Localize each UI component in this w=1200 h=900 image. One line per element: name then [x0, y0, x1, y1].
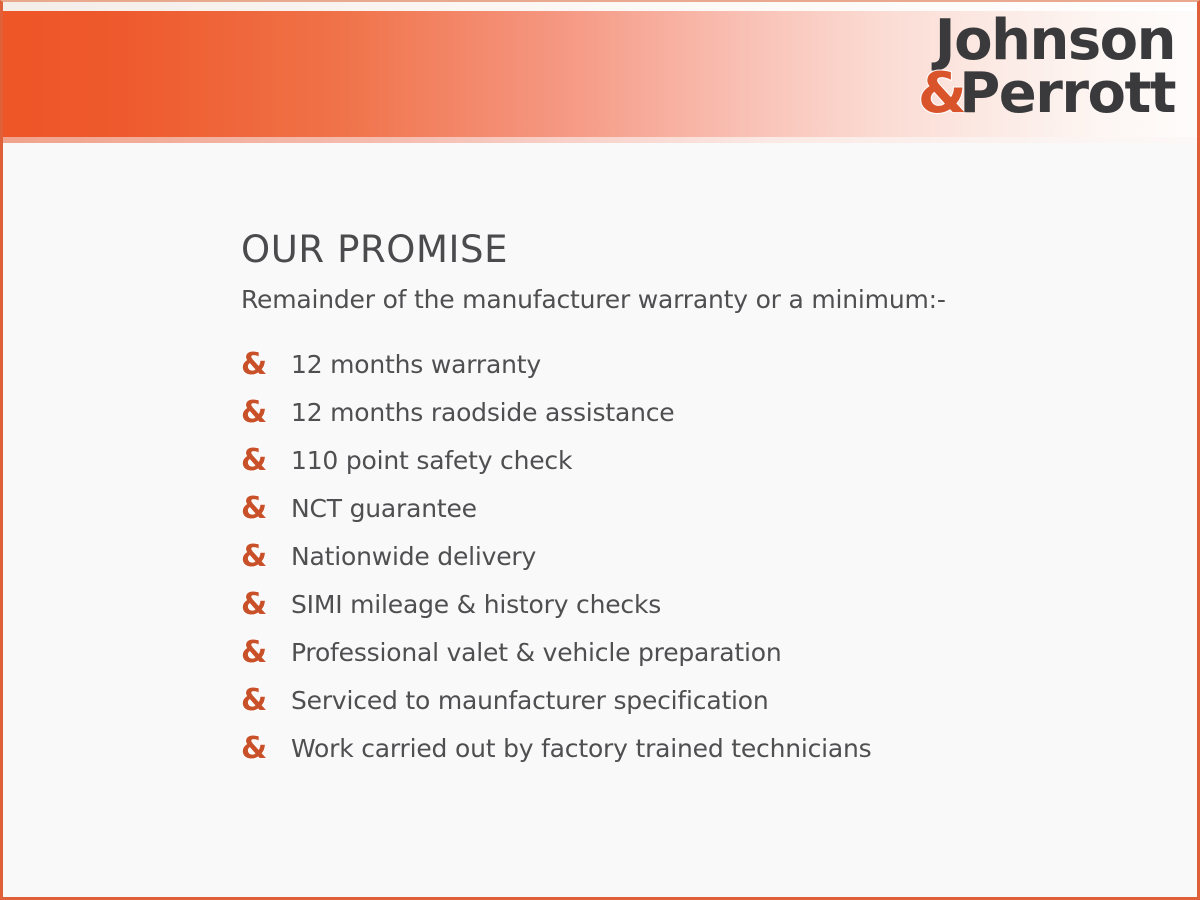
- list-item: & 12 months warranty: [241, 341, 1157, 389]
- list-item-label: Serviced to maunfacturer specification: [291, 686, 769, 716]
- logo-text-perrott-line: &Perrott: [918, 65, 1175, 122]
- ampersand-bullet-icon: &: [241, 590, 291, 620]
- page-title: OUR PROMISE: [241, 230, 1157, 271]
- list-item-label: Professional valet & vehicle preparation: [291, 638, 781, 668]
- list-item: & 12 months raodside assistance: [241, 389, 1157, 437]
- logo-text-perrott: Perrott: [959, 61, 1175, 126]
- promise-content: OUR PROMISE Remainder of the manufacture…: [241, 230, 1157, 773]
- list-item: & NCT guarantee: [241, 485, 1157, 533]
- ampersand-bullet-icon: &: [241, 350, 291, 380]
- list-item-label: 12 months warranty: [291, 350, 541, 380]
- list-item-label: Nationwide delivery: [291, 542, 536, 572]
- ampersand-bullet-icon: &: [241, 542, 291, 572]
- list-item-label: NCT guarantee: [291, 494, 477, 524]
- list-item: & Professional valet & vehicle preparati…: [241, 629, 1157, 677]
- list-item: & 110 point safety check: [241, 437, 1157, 485]
- list-item-label: Work carried out by factory trained tech…: [291, 734, 872, 764]
- list-item: & Nationwide delivery: [241, 533, 1157, 581]
- header-underline: [3, 137, 1197, 143]
- list-item-label: 110 point safety check: [291, 446, 572, 476]
- list-item-label: SIMI mileage & history checks: [291, 590, 661, 620]
- list-item: & SIMI mileage & history checks: [241, 581, 1157, 629]
- ampersand-bullet-icon: &: [241, 686, 291, 716]
- ampersand-bullet-icon: &: [241, 638, 291, 668]
- list-item: & Work carried out by factory trained te…: [241, 725, 1157, 773]
- page-header: Johnson &Perrott: [3, 2, 1197, 143]
- ampersand-bullet-icon: &: [241, 734, 291, 764]
- ampersand-bullet-icon: &: [241, 398, 291, 428]
- ampersand-bullet-icon: &: [241, 446, 291, 476]
- promise-list: & 12 months warranty & 12 months raodsid…: [241, 341, 1157, 773]
- ampersand-bullet-icon: &: [241, 494, 291, 524]
- list-item-label: 12 months raodside assistance: [291, 398, 674, 428]
- page-subtitle: Remainder of the manufacturer warranty o…: [241, 285, 1157, 315]
- list-item: & Serviced to maunfacturer specification: [241, 677, 1157, 725]
- promise-page: Johnson &Perrott OUR PROMISE Remainder o…: [0, 0, 1200, 900]
- johnson-perrott-logo[interactable]: Johnson &Perrott: [918, 12, 1175, 122]
